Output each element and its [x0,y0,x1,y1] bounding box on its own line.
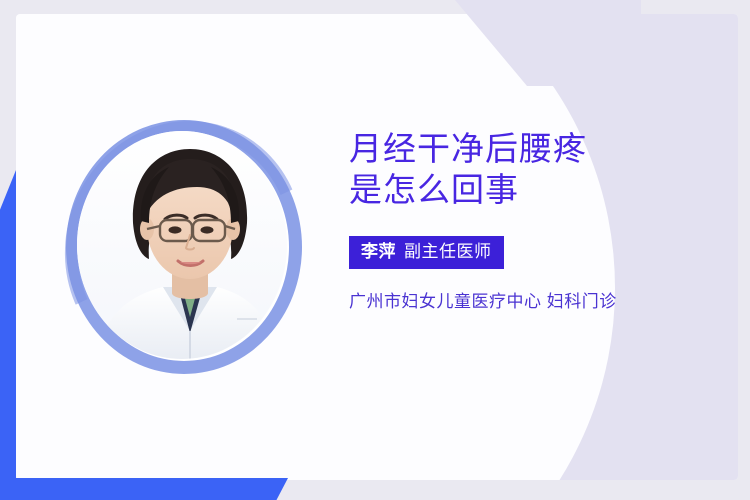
page-title: 月经干净后腰疼是怎么回事 [349,128,709,210]
doctor-affiliation: 广州市妇女儿童医疗中心 妇科门诊 [349,291,709,313]
headline-line-2: 是怎么回事 [349,171,519,208]
accent-bar-bottom [0,478,288,500]
doctor-credential-badge: 李萍副主任医师 [349,236,504,269]
text-block: 月经干净后腰疼是怎么回事 李萍副主任医师 广州市妇女儿童医疗中心 妇科门诊 [349,128,709,313]
avatar [64,118,304,376]
doctor-portrait-photo [77,131,287,359]
headline-line-1: 月经干净后腰疼 [349,130,587,167]
doctor-name: 李萍 [361,242,396,261]
video-cover-card: 月经干净后腰疼是怎么回事 李萍副主任医师 广州市妇女儿童医疗中心 妇科门诊 [0,0,750,500]
doctor-title: 副主任医师 [404,242,492,261]
accent-bar-left [0,170,16,500]
